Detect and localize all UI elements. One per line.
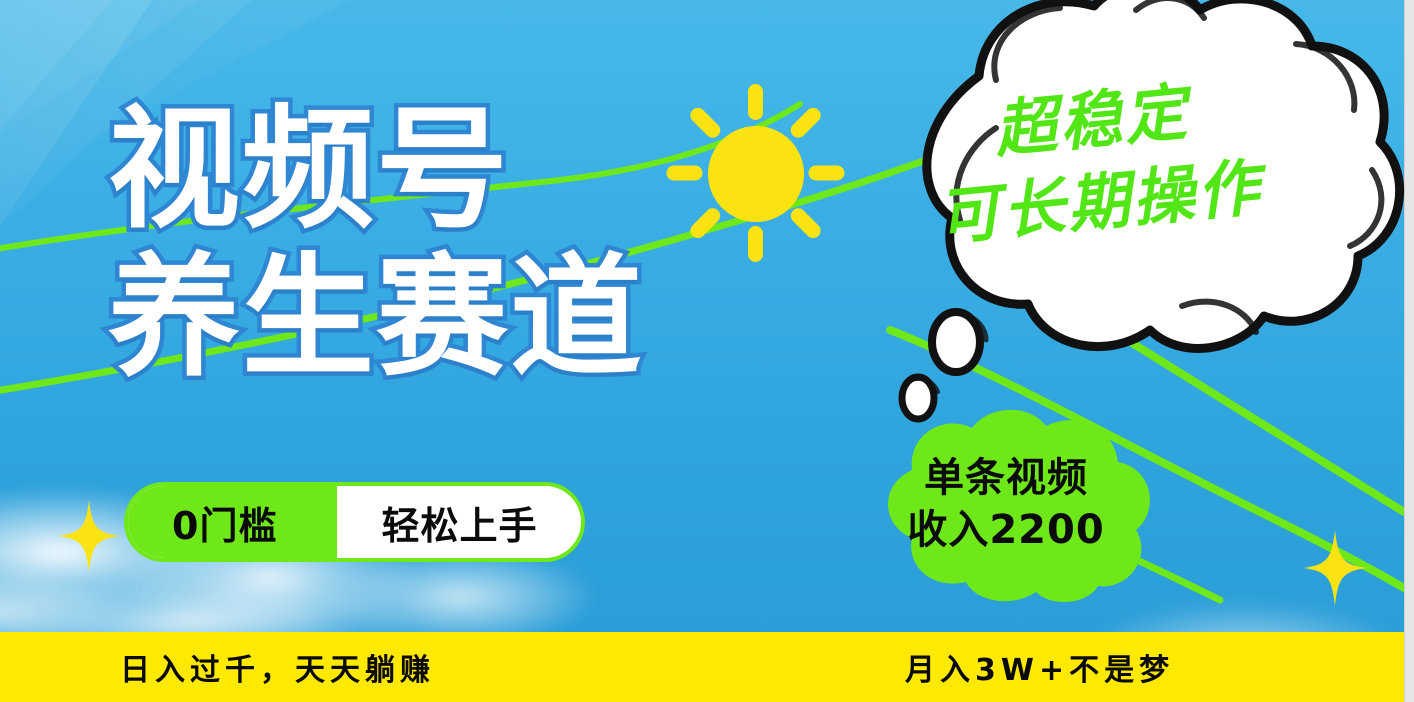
sun-ray (748, 84, 763, 120)
sun-ray (687, 105, 723, 141)
pill-zero-threshold[interactable]: 0门槛 (128, 486, 337, 558)
sparkle-icon-left (58, 500, 120, 572)
footer-text-right: 月入3W+不是梦 (905, 645, 1174, 689)
sun-ray (788, 205, 824, 241)
promo-banner: 视频号 养生赛道 0门槛 轻松上手 超稳定 可长期操作 (0, 0, 1414, 702)
footer-text-left: 日入过千，天天躺赚 (120, 645, 435, 689)
income-badge-text: 单条视频 收入2200 (856, 452, 1156, 556)
sun-ray (788, 105, 824, 141)
sparkle-icon-right (1303, 530, 1367, 606)
sun-core (708, 126, 804, 222)
footer-bar: 日入过千，天天躺赚 月入3W+不是梦 (0, 632, 1404, 702)
badge-line-1: 单条视频 (856, 452, 1156, 504)
thought-bubble-dot-large (932, 312, 980, 372)
sun-ray (687, 205, 723, 241)
sun-icon (660, 78, 850, 268)
badge-line-2: 收入2200 (856, 504, 1156, 556)
feature-pill-group: 0门槛 轻松上手 (128, 486, 581, 558)
sun-ray (748, 226, 763, 262)
income-badge: 单条视频 收入2200 (856, 406, 1156, 604)
sun-ray (667, 166, 703, 181)
light-ray (0, 0, 39, 632)
title-line-1: 视频号 (108, 96, 644, 244)
pill-easy-start[interactable]: 轻松上手 (337, 486, 581, 558)
title-line-2: 养生赛道 (108, 244, 644, 392)
main-title: 视频号 养生赛道 (108, 96, 644, 392)
